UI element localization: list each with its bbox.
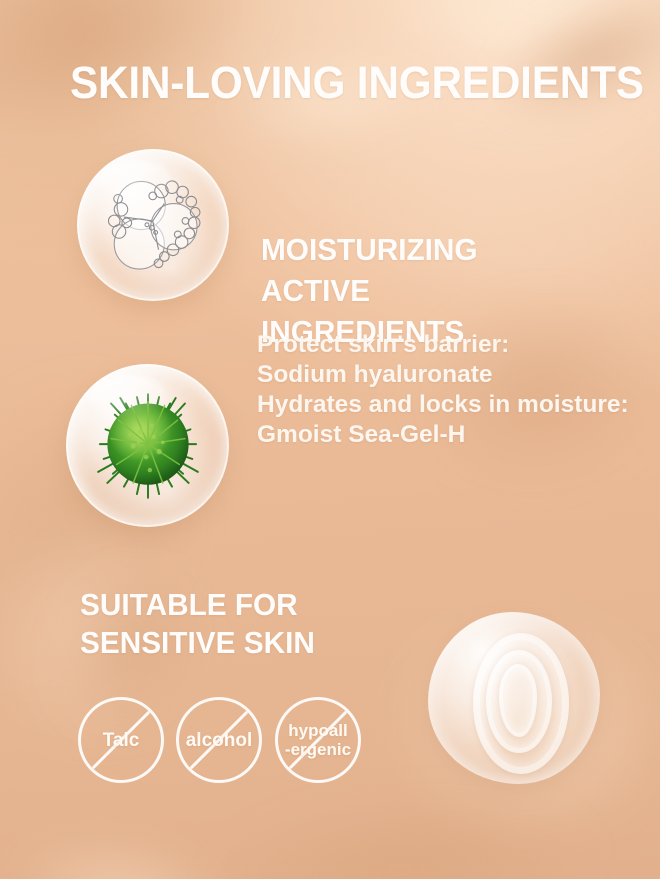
body-line-3: Hydrates and locks in moisture: xyxy=(257,390,617,420)
badge-label-line1: alcohol xyxy=(186,730,253,751)
body-line-2: Sodium hyaluronate xyxy=(257,360,617,390)
ingredients-subheading-line1: MOISTURIZING ACTIVE xyxy=(261,229,587,311)
clear-gel-droplet-image xyxy=(428,612,600,784)
badge-label-line1: Talc xyxy=(103,730,140,751)
moss-ball-illustration xyxy=(92,390,203,501)
foam-bubble-sphere-image xyxy=(77,149,229,301)
sensitive-skin-subheading-line1: SUITABLE FOR xyxy=(80,586,315,624)
sensitive-skin-subheading: SUITABLE FOR SENSITIVE SKIN xyxy=(80,586,315,662)
free-from-badge-alcohol: alcohol xyxy=(176,697,262,783)
badge-label-line2: -ergenic xyxy=(285,740,351,759)
badge-label: hypoall -ergenic xyxy=(285,721,351,759)
badge-label: Talc xyxy=(103,730,140,751)
body-line-4: Gmoist Sea-Gel-H xyxy=(257,420,617,450)
page-title: SKIN-LOVING INGREDIENTS xyxy=(70,58,644,108)
body-line-1: Protect skin's barrier: xyxy=(257,330,617,360)
free-from-badge-talc: Talc xyxy=(78,697,164,783)
free-from-badge-hypoallergenic: hypoall -ergenic xyxy=(275,697,361,783)
product-feature-poster: SKIN-LOVING INGREDIENTS xyxy=(0,0,660,879)
sensitive-skin-subheading-line2: SENSITIVE SKIN xyxy=(80,624,315,662)
foam-bubble-illustration xyxy=(95,167,211,283)
ingredients-body-copy: Protect skin's barrier: Sodium hyalurona… xyxy=(257,330,617,450)
badge-label-line1: hypoall xyxy=(285,721,351,740)
badge-label: alcohol xyxy=(186,730,253,751)
green-moss-sphere-image xyxy=(66,364,229,527)
